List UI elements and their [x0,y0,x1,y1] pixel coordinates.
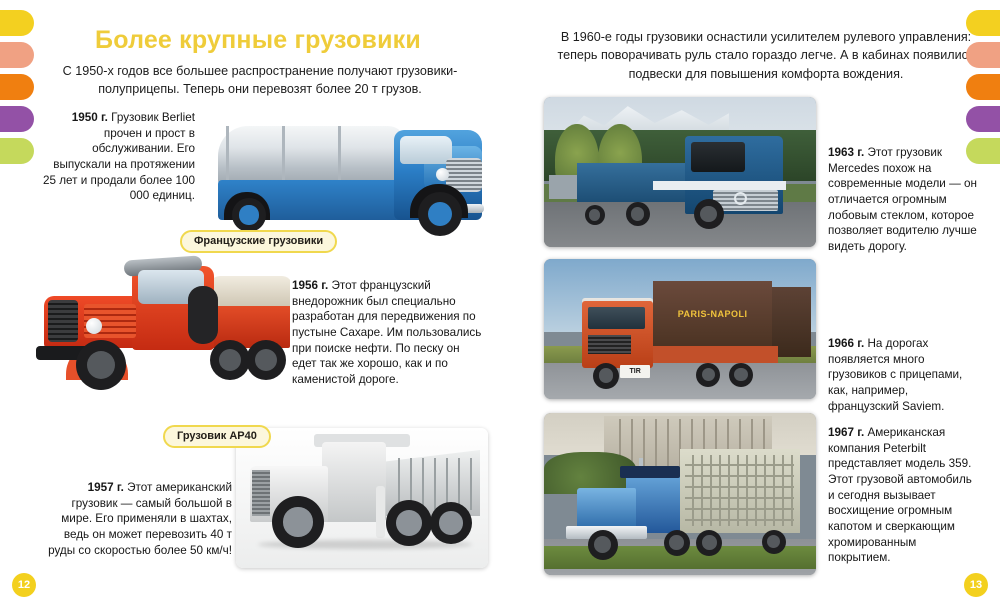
entry-1956-body: Этот французский внедорожник был специал… [292,279,481,386]
tab-lime[interactable] [0,138,34,164]
saviem-1966-photo: PARIS-NAPOLI TIR [544,259,816,399]
tab-purple[interactable] [966,106,1000,132]
entry-1966-year: 1966 г. [828,337,864,350]
page-number-right: 13 [964,573,988,597]
tir-plate: TIR [620,365,650,378]
tab-orange[interactable] [966,74,1000,100]
wheel [386,500,432,546]
side-tabs-left [0,10,34,164]
page-title: Более крупные грузовики [38,26,478,55]
wheel [418,192,462,236]
wheel [585,205,605,225]
entry-1957-body: Этот американский грузовик — самый больш… [48,481,232,557]
entry-1950-year: 1950 г. [72,111,108,124]
wheel [430,502,472,544]
tab-yellow[interactable] [966,10,1000,36]
red-desert-truck-illustration [28,248,290,408]
book-spread: 12 13 Более крупные грузовики С 1950-х г… [0,0,1000,611]
wheel [588,530,618,560]
entry-1950-text: 1950 г. Грузовик Berliet прочен и прост … [40,110,195,204]
wheel [664,530,690,556]
intro-paragraph-left: С 1950-х годов все большее распространен… [44,62,476,99]
wheel [694,199,724,229]
wheel [232,198,266,232]
wheel [272,496,324,548]
entry-1963-body: Этот грузовик Mercedes похож на современ… [828,146,977,253]
right-page: В 1960-е годы грузовики оснастили усилит… [520,0,1000,611]
entry-1967-body: Американская компания Peterbilt представ… [828,426,972,564]
entry-1967-year: 1967 г. [828,426,864,439]
wheel [626,202,650,226]
tab-yellow[interactable] [0,10,34,36]
trailer-sign-text: PARIS-NAPOLI [661,309,764,319]
page-number-left: 12 [12,573,36,597]
mercedes-star-emblem [734,192,747,205]
wheel [593,363,619,389]
berliet-tanker-truck-illustration [196,100,486,240]
entry-1957-text: 1957 г. Этот американский грузовик — сам… [42,480,232,558]
tab-salmon[interactable] [966,42,1000,68]
wheel [696,530,722,556]
peterbilt-359-photo [544,413,816,575]
entry-1963-text: 1963 г. Этот грузовик Mercedes похож на … [828,145,978,255]
left-page: Более крупные грузовики С 1950-х годов в… [0,0,520,611]
wheel [762,530,786,554]
entry-1950-body: Грузовик Berliet прочен и прост в обслуж… [43,111,195,202]
side-tabs-right [966,10,1000,164]
tab-lime[interactable] [966,138,1000,164]
badge-ap40-truck: Грузовик AP40 [163,425,271,448]
entry-1957-year: 1957 г. [88,481,124,494]
badge-french-trucks: Французские грузовики [180,230,337,253]
intro-paragraph-right: В 1960-е годы грузовики оснастили усилит… [556,28,976,83]
tab-orange[interactable] [0,74,34,100]
entry-1963-year: 1963 г. [828,146,864,159]
entry-1966-text: 1966 г. На дорогах появляется много груз… [828,336,978,414]
wheel [76,340,126,390]
mercedes-1963-photo [544,97,816,247]
tab-purple[interactable] [0,106,34,132]
entry-1956-year: 1956 г. [292,279,328,292]
tab-salmon[interactable] [0,42,34,68]
wheel [210,340,250,380]
wheel [696,363,720,387]
entry-1956-text: 1956 г. Этот французский внедорожник был… [292,278,482,388]
ap40-dump-truck-photo [236,428,488,568]
wheel [246,340,286,380]
wheel [729,363,753,387]
entry-1967-text: 1967 г. Американская компания Peterbilt … [828,425,980,566]
